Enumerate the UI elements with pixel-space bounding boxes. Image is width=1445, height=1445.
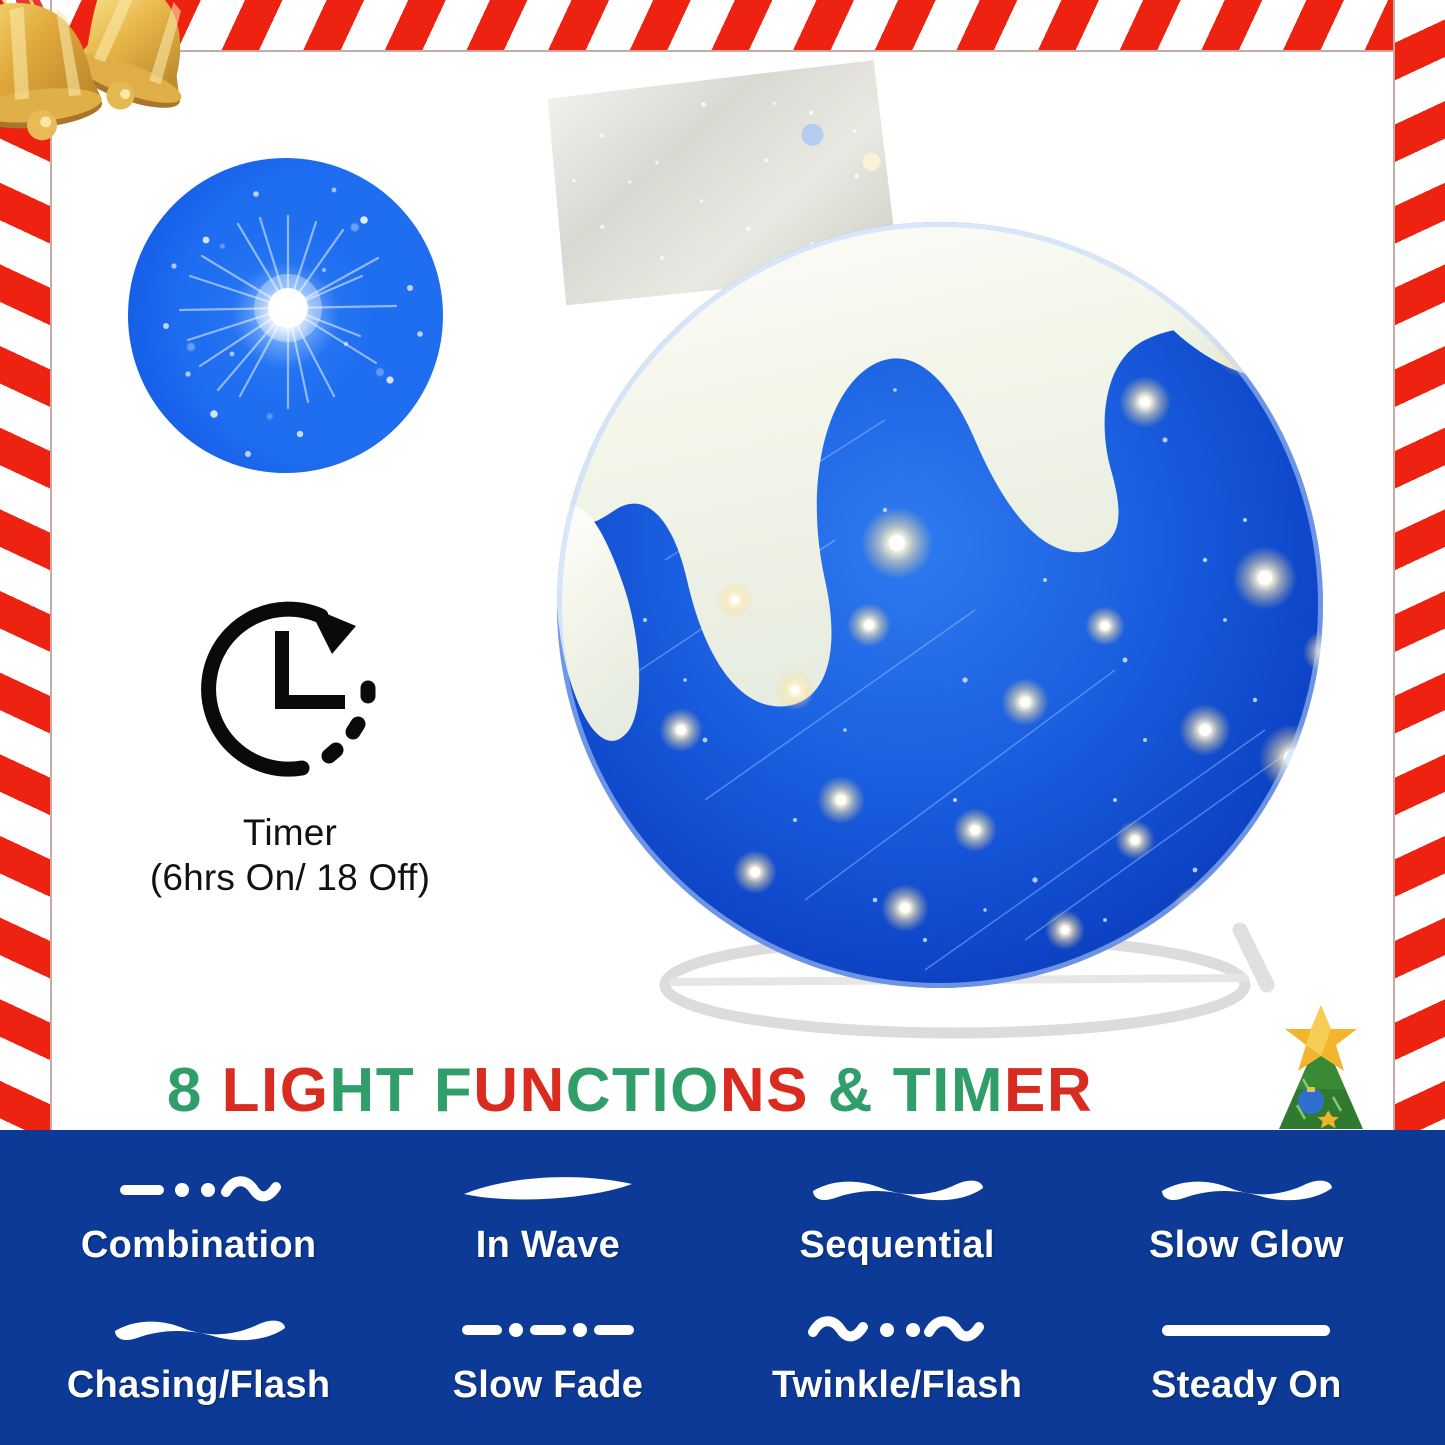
headline-seg-10: ER bbox=[1004, 1055, 1093, 1126]
function-steady-on: Steady On bbox=[1072, 1289, 1421, 1430]
dash-dot-dash-dot-dash-icon bbox=[458, 1310, 638, 1350]
function-combination: Combination bbox=[24, 1148, 373, 1289]
function-twinkle-flash: Twinkle/Flash bbox=[723, 1289, 1072, 1430]
timer-feature-block: Timer (6hrs On/ 18 Off) bbox=[120, 592, 460, 900]
function-label: Chasing/Flash bbox=[67, 1364, 331, 1407]
dash-dot-dot-tilde-icon bbox=[114, 1170, 284, 1210]
function-slow-fade: Slow Fade bbox=[373, 1289, 722, 1430]
function-chasing-flash: Chasing/Flash bbox=[24, 1289, 373, 1430]
double-lens-icon bbox=[1156, 1170, 1336, 1210]
headline-seg-3: HT bbox=[329, 1055, 415, 1126]
light-functions-panel: Combination In Wave Sequential bbox=[0, 1130, 1445, 1445]
headline-seg-0: 8 bbox=[167, 1055, 203, 1126]
christmas-bells-icon bbox=[0, 0, 272, 203]
headline-seg-4 bbox=[415, 1055, 434, 1126]
timer-clock-icon bbox=[190, 592, 390, 792]
function-label: Combination bbox=[81, 1224, 317, 1267]
timer-detail: (6hrs On/ 18 Off) bbox=[120, 855, 460, 900]
headline-seg-2: LIG bbox=[222, 1055, 330, 1126]
light-effect-preview-circle bbox=[128, 158, 443, 473]
function-label: Steady On bbox=[1151, 1364, 1342, 1407]
headline-seg-6: UN bbox=[473, 1055, 566, 1126]
product-feature-image: Timer (6hrs On/ 18 Off) 8 LIGHT FUNCTION… bbox=[0, 0, 1445, 1445]
headline-seg-9: & TIM bbox=[809, 1055, 1004, 1126]
function-slow-glow: Slow Glow bbox=[1072, 1148, 1421, 1289]
function-label: Sequential bbox=[800, 1224, 995, 1267]
christmas-tree-icon bbox=[1245, 1001, 1397, 1133]
headline-seg-8: NS bbox=[720, 1055, 809, 1126]
timer-title: Timer bbox=[120, 810, 460, 855]
headline-8-light-functions-timer: 8 LIGHT FUNCTIONS & TIMER bbox=[0, 1050, 1260, 1130]
tilde-dot-dot-tilde-icon bbox=[807, 1310, 987, 1350]
function-label: Twinkle/Flash bbox=[772, 1364, 1022, 1407]
ornament-product-image bbox=[505, 40, 1385, 1050]
double-lens-icon bbox=[807, 1170, 987, 1210]
function-in-wave: In Wave bbox=[373, 1148, 722, 1289]
function-label: Slow Glow bbox=[1149, 1224, 1344, 1267]
single-lens-icon bbox=[458, 1170, 638, 1210]
function-sequential: Sequential bbox=[723, 1148, 1072, 1289]
solid-bar-icon bbox=[1156, 1310, 1336, 1350]
headline-seg-7: CTIO bbox=[566, 1055, 720, 1126]
headline-seg-5: F bbox=[434, 1055, 473, 1126]
double-lens-icon bbox=[109, 1310, 289, 1350]
headline-seg-1 bbox=[203, 1055, 222, 1126]
function-label: In Wave bbox=[476, 1224, 620, 1267]
function-label: Slow Fade bbox=[453, 1364, 644, 1407]
